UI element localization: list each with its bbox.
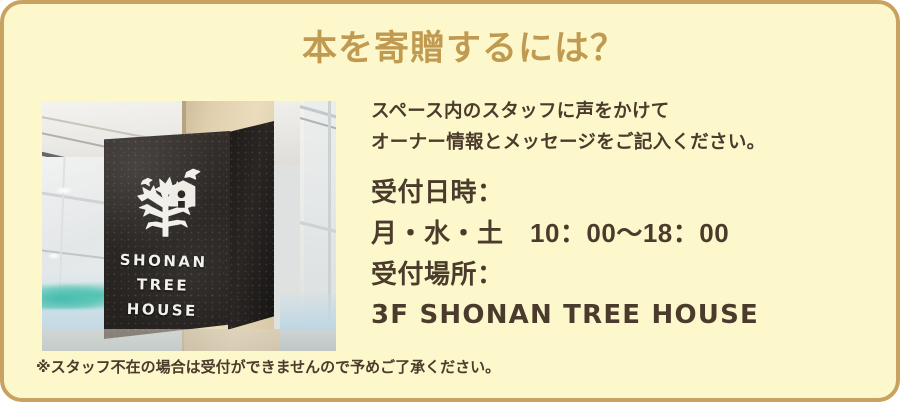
tree-house-logo xyxy=(126,159,210,243)
sign-side-panel xyxy=(228,121,274,343)
reception-datetime-value: 月・水・土 10：00〜18：00 xyxy=(371,213,759,254)
wall-sign: SHONAN TREE HOUSE xyxy=(104,121,280,343)
lead-paragraph: スペース内のスタッフに声をかけて オーナー情報とメッセージをご記入ください。 xyxy=(371,96,765,157)
reception-info: 受付日時： 月・水・土 10：00〜18：00 受付場所： 3F SHONAN … xyxy=(371,172,759,336)
signage-photo: SHONAN TREE HOUSE xyxy=(42,101,336,351)
reception-place-value: 3F SHONAN TREE HOUSE xyxy=(371,295,759,336)
floor-strip xyxy=(42,329,336,351)
page-title: 本を寄贈するには？ xyxy=(254,28,674,70)
sign-texture xyxy=(228,121,274,343)
lead-line-2: オーナー情報とメッセージをご記入ください。 xyxy=(371,127,765,158)
sign-text-line-3: HOUSE xyxy=(103,296,222,324)
sign-text-line-1: SHONAN xyxy=(104,247,223,275)
sign-text-line-2: TREE xyxy=(104,272,223,300)
photo-scene: SHONAN TREE HOUSE xyxy=(42,101,336,351)
ceiling-downlight xyxy=(56,187,72,194)
availability-note: ※スタッフ不在の場合は受付ができませんので予めご了承ください。 xyxy=(36,356,500,377)
sign-front-panel: SHONAN TREE HOUSE xyxy=(104,131,230,339)
donation-info-card: 本を寄贈するには？ xyxy=(0,0,900,402)
reception-datetime-label: 受付日時： xyxy=(371,172,759,213)
sign-text: SHONAN TREE HOUSE xyxy=(103,247,223,323)
ceiling-downlight xyxy=(48,253,60,259)
lead-line-1: スペース内のスタッフに声をかけて xyxy=(371,96,765,127)
reception-place-label: 受付場所： xyxy=(371,254,759,295)
